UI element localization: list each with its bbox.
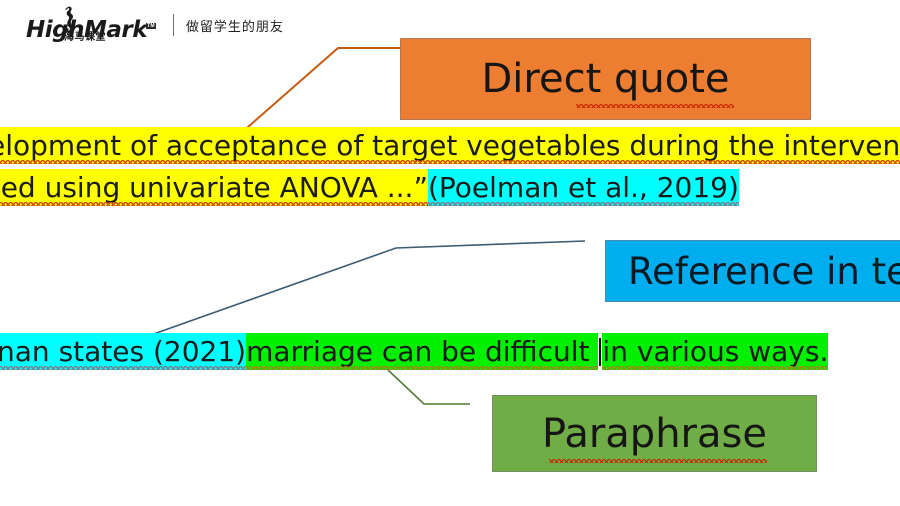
trademark-symbol: TM: [146, 23, 156, 29]
callout-direct-quote[interactable]: Direct quote: [400, 38, 811, 120]
highlighted-paraphrase-text-before: marriage can be difficult: [246, 333, 598, 370]
callout-paraphrase[interactable]: Paraphrase: [492, 395, 817, 472]
logo-chinese-name: 海马课堂: [64, 28, 106, 43]
document-line-quote-1[interactable]: elopment of acceptance of target vegetab…: [0, 130, 900, 162]
brand-divider: [173, 14, 174, 36]
document-line-quote-2[interactable]: zed using univariate ANOVA ...”(Poelman …: [0, 172, 739, 204]
highlighted-paraphrase-text-after: in various ways.: [602, 333, 828, 370]
callout-direct-quote-label: Direct quote: [482, 59, 730, 99]
brand-header: HighMark TM 海马课堂 做留学生的朋友: [26, 8, 284, 42]
callout-reference-label: Reference in te: [628, 253, 900, 290]
highlighted-quote-text-2: zed using univariate ANOVA ...”: [0, 169, 428, 206]
brand-tagline: 做留学生的朋友: [186, 16, 284, 35]
callout-paraphrase-label: Paraphrase: [542, 414, 767, 454]
paraphrase-connector: [388, 370, 470, 404]
document-line-paraphrase[interactable]: rnan states (2021)marriage can be diffic…: [0, 336, 828, 368]
callout-reference-in-text[interactable]: Reference in te: [605, 240, 900, 302]
highlighted-citation-year: rnan states (2021): [0, 333, 246, 370]
slide-canvas: HighMark TM 海马课堂 做留学生的朋友 elopment of acc…: [0, 0, 900, 506]
highmark-logo: HighMark TM 海马课堂: [26, 8, 157, 42]
highlighted-citation-poelman: (Poelman et al., 2019): [428, 169, 739, 206]
reference-connector: [148, 241, 585, 336]
highlighted-quote-text-1: elopment of acceptance of target vegetab…: [0, 127, 900, 164]
